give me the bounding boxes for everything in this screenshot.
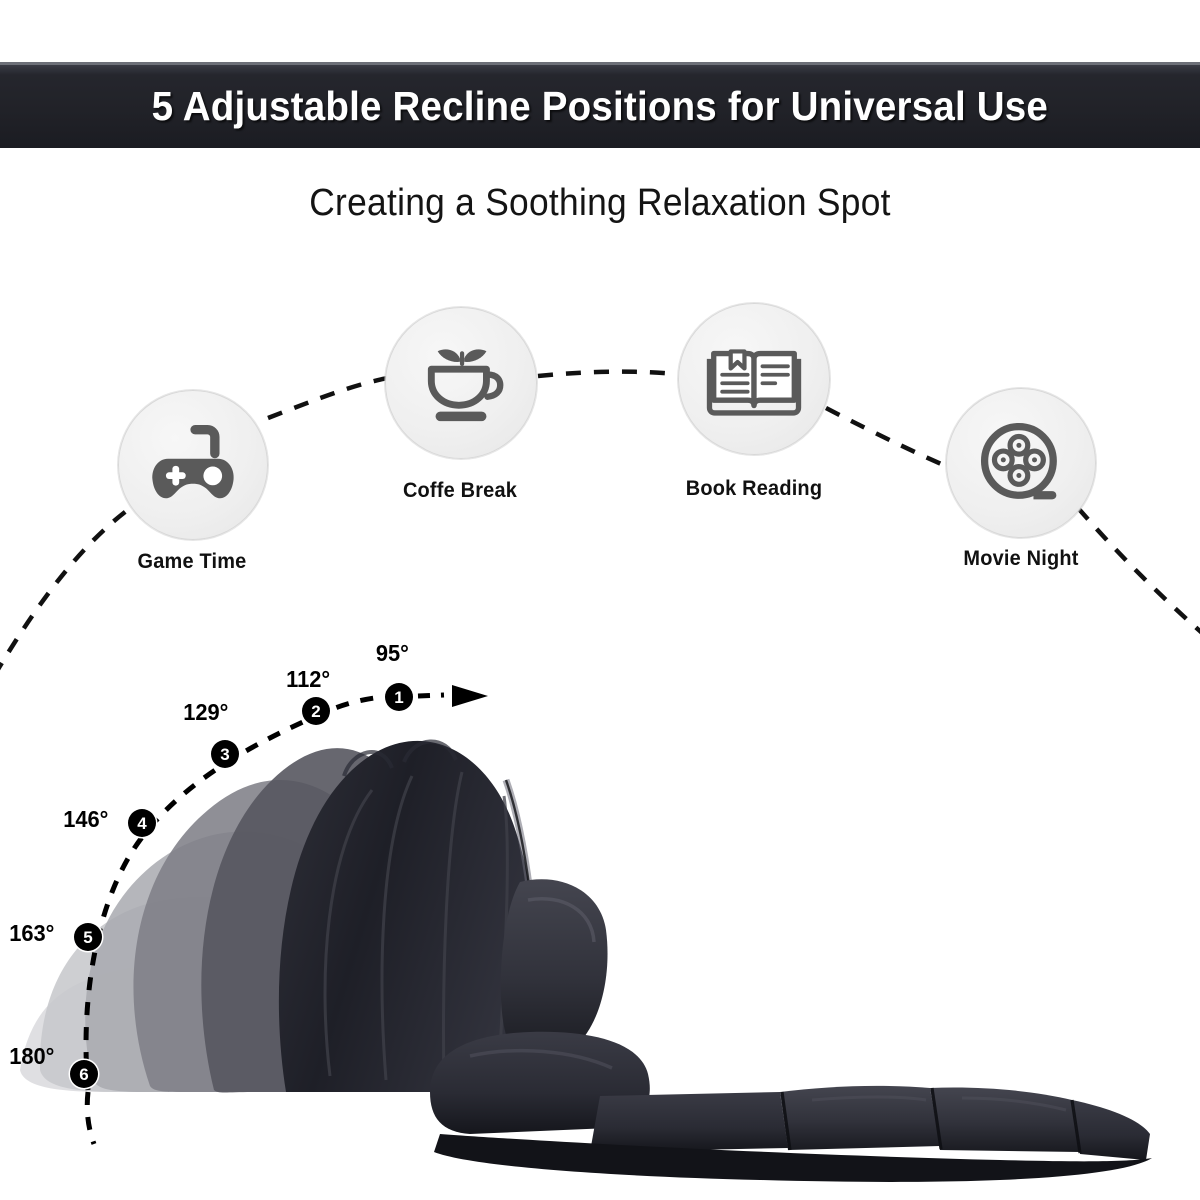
angle-arc-path: [86, 696, 404, 1090]
recline-angle-arc: [0, 600, 1200, 1200]
movie-night-bubble[interactable]: [946, 388, 1096, 538]
arc-segment-game-coffee: [268, 377, 392, 418]
recline-badge-1: 1: [385, 683, 413, 711]
angle-arc-tail: [87, 1092, 94, 1144]
recline-badge-6: 6: [70, 1060, 98, 1088]
recline-badge-5: 5: [74, 923, 102, 951]
film-reel-icon: [969, 411, 1073, 515]
game-time-label: Game Time: [122, 550, 263, 574]
recline-badge-3: 3: [211, 740, 239, 768]
recline-badge-4: 4: [128, 809, 156, 837]
movie-night-label: Movie Night: [940, 547, 1102, 571]
coffe-break-label: Coffe Break: [384, 479, 536, 503]
gamepad-icon: [141, 413, 245, 517]
recline-angle-4: 146°: [63, 806, 108, 833]
book-reading-label: Book Reading: [672, 477, 835, 501]
arc-segment-coffee-book: [538, 372, 676, 376]
open-book-icon: [701, 326, 807, 432]
book-reading-bubble[interactable]: [678, 303, 830, 455]
coffee-cup-icon: [408, 330, 514, 436]
coffe-break-bubble[interactable]: [385, 307, 537, 459]
recline-angle-3: 129°: [183, 699, 228, 726]
recline-angle-6: 180°: [9, 1043, 54, 1070]
recline-angle-2: 112°: [286, 666, 330, 693]
game-time-bubble[interactable]: [118, 390, 268, 540]
recline-badge-2: 2: [302, 697, 330, 725]
arc-segment-book-movie: [826, 408, 955, 470]
recline-angle-1: 95°: [376, 640, 409, 667]
recline-angle-5: 163°: [9, 920, 54, 947]
activity-arc: [0, 0, 1200, 700]
arc-arrowhead: [418, 685, 488, 707]
infographic-root: 5 Adjustable Recline Positions for Unive…: [0, 0, 1200, 1200]
